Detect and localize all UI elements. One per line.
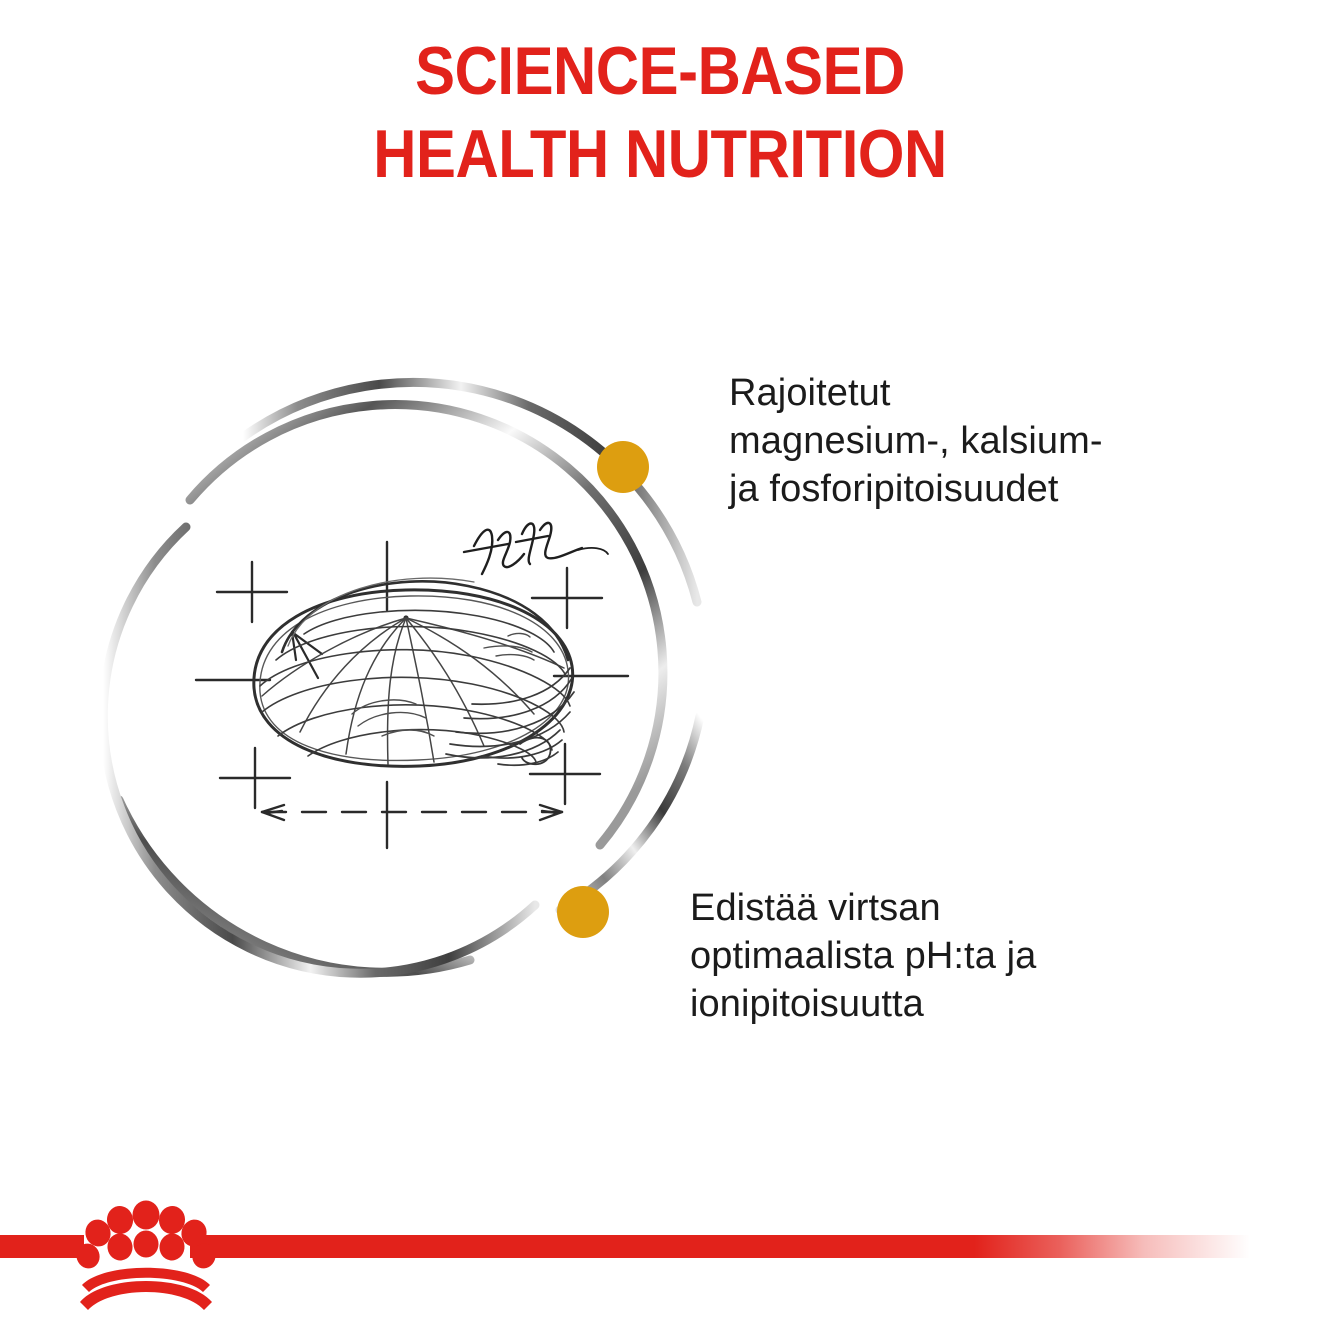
- page-title: SCIENCE-BASED HEALTH NUTRITION: [0, 30, 1320, 196]
- crown-dot-top-3: [133, 1201, 160, 1230]
- dimension-line: [262, 805, 562, 820]
- kibble-sketch: [196, 523, 628, 848]
- kibble-outline: [254, 590, 573, 766]
- outer-ring-arc-top: [243, 382, 697, 602]
- kibble-outline-secondary: [260, 596, 569, 761]
- kibble-crown-sweep: [282, 581, 568, 660]
- title-line-2: HEALTH NUTRITION: [79, 113, 1241, 196]
- outer-ring-arc-bottom-left: [119, 800, 470, 972]
- kibble-latitudes: [260, 610, 570, 762]
- kibble-body: [254, 578, 574, 766]
- signature-scribble: [464, 523, 608, 574]
- title-line-1: SCIENCE-BASED: [79, 30, 1241, 113]
- benefit-marker-dot-bottom[interactable]: [557, 886, 609, 938]
- kibble-swirl: [520, 738, 551, 765]
- registration-marks: [196, 542, 628, 848]
- outer-ring-arc-right: [560, 716, 700, 910]
- footer-bar-right: [190, 1235, 1250, 1258]
- inner-ring: [103, 405, 663, 974]
- footer-brand-bar: [0, 1200, 1320, 1320]
- royal-canin-crown-logo: [73, 1201, 219, 1311]
- kibble-apex: [403, 615, 408, 620]
- benefit-diagram: [0, 0, 1320, 1320]
- footer-bar-left: [0, 1235, 84, 1258]
- outer-ring: [119, 382, 700, 972]
- benefit-text-urinary-ph: Edistää virtsan optimaalista pH:ta ja io…: [690, 884, 1210, 1028]
- leader-arrow: [292, 632, 322, 678]
- benefit-text-minerals: Rajoitetut magnesium-, kalsium- ja fosfo…: [729, 369, 1249, 513]
- benefit-marker-dot-top[interactable]: [597, 441, 649, 493]
- crown-dot-bottom-3: [134, 1231, 159, 1258]
- inner-ring-arc-main: [190, 405, 663, 845]
- crown-arc-lower: [80, 1281, 212, 1310]
- kibble-interior-detail: [352, 633, 534, 736]
- inner-ring-arc-left: [103, 527, 535, 973]
- kibble-longitudes: [262, 618, 564, 764]
- kibble-shading: [446, 668, 574, 765]
